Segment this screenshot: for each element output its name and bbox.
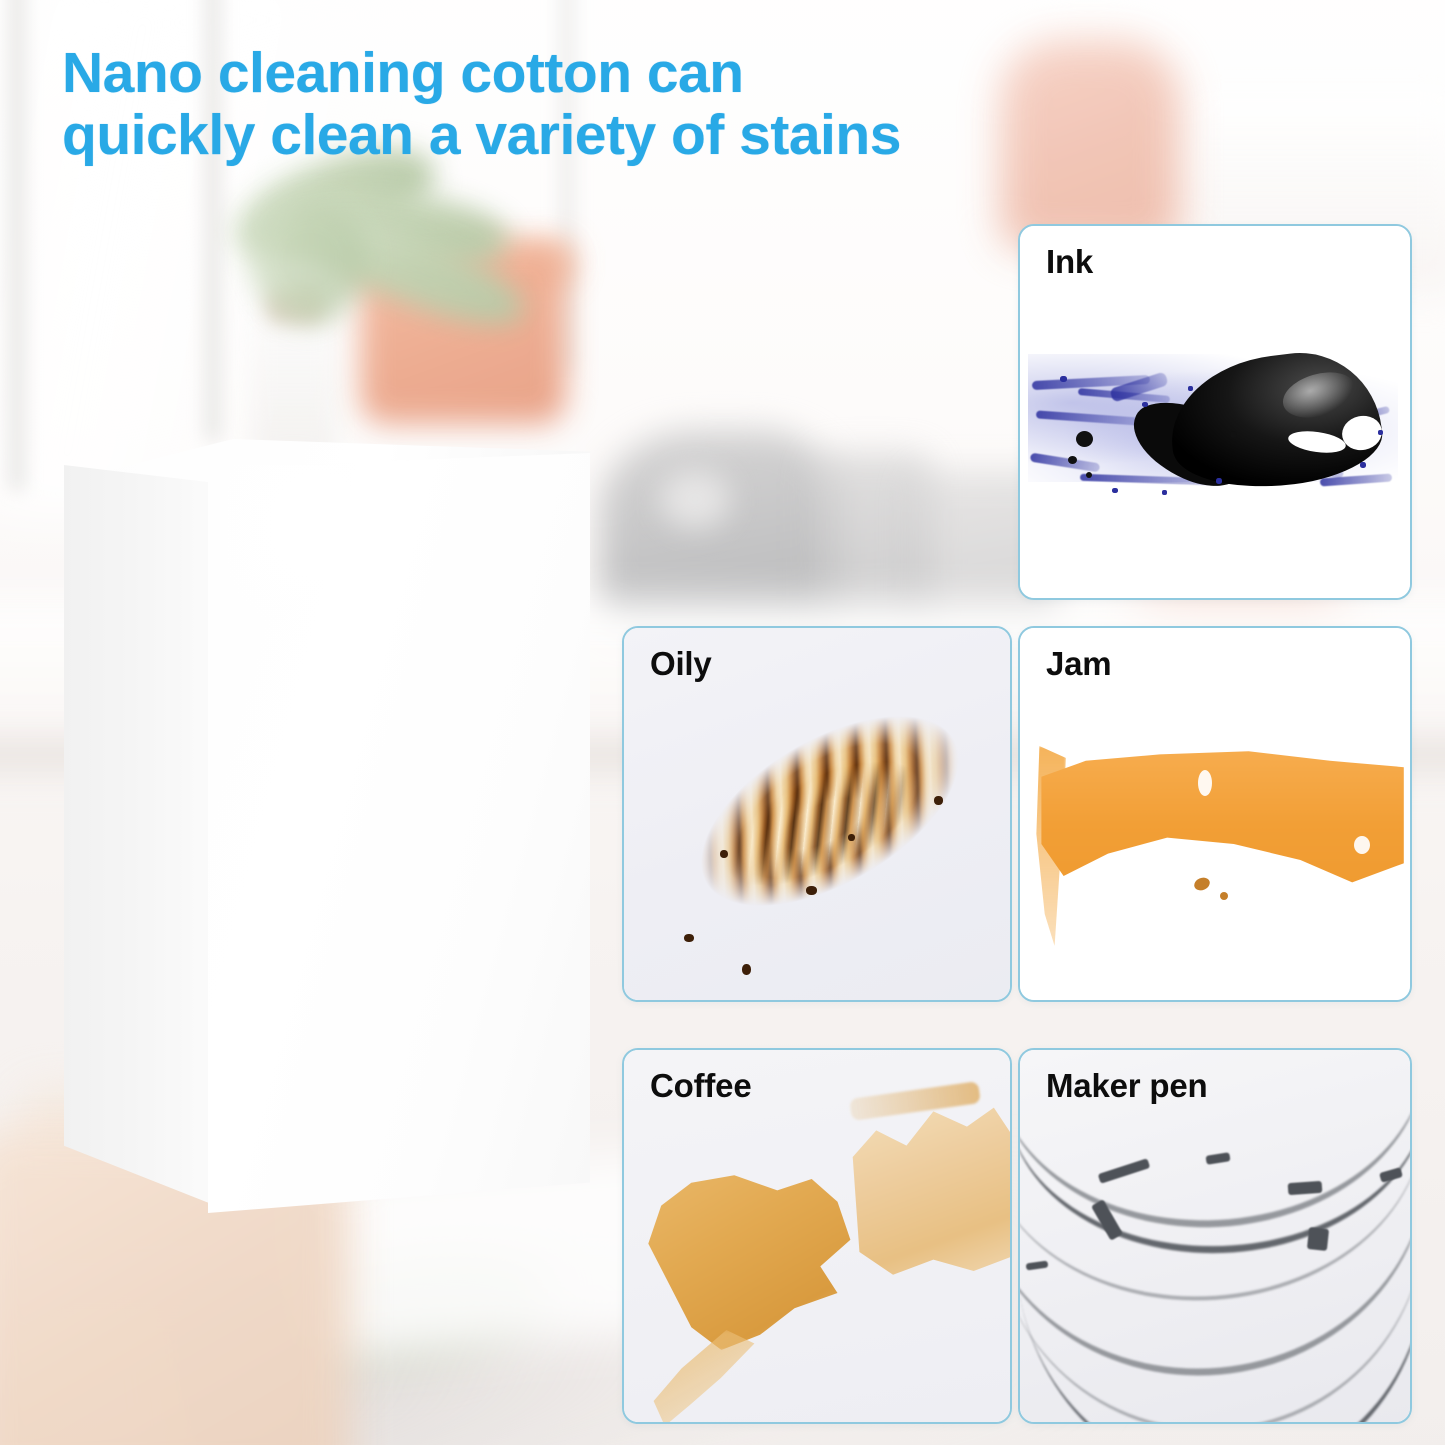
stain-card-oily[interactable]: Oily (622, 626, 1012, 1002)
ink-speck (1060, 376, 1067, 382)
ink-droplet (1068, 456, 1077, 464)
stain-card-label: Coffee (650, 1066, 751, 1106)
oily-crumb (684, 934, 694, 942)
ink-speck (1378, 430, 1383, 435)
ink-speck (1162, 490, 1167, 495)
stain-card-ink[interactable]: Ink (1018, 224, 1412, 600)
stain-card-label: Maker pen (1046, 1066, 1207, 1106)
background-window-frame (10, 0, 24, 490)
page-title: Nano cleaning cotton can quickly clean a… (62, 42, 1072, 166)
ink-droplet (1076, 431, 1093, 447)
jam-highlight (1354, 836, 1370, 854)
marker-gap-mark (1307, 1227, 1329, 1251)
product-marketing-poster: Nano cleaning cotton can quickly clean a… (0, 0, 1445, 1445)
oily-crumb (848, 834, 855, 841)
stain-card-jam[interactable]: Jam (1018, 626, 1412, 1002)
ink-speck (1360, 462, 1366, 468)
stain-card-label: Ink (1046, 242, 1093, 282)
ink-speck (1112, 488, 1118, 493)
ink-speck (1142, 402, 1148, 407)
stain-card-label: Oily (650, 644, 712, 684)
oily-crumb (934, 796, 943, 805)
jam-fruit-bit (1220, 892, 1228, 900)
ink-droplet (1230, 431, 1237, 438)
oily-crumb (742, 964, 751, 975)
oily-crumb (806, 886, 817, 895)
sponge-side-face (64, 465, 214, 1205)
oily-crumb (720, 850, 728, 858)
stain-card-label: Jam (1046, 644, 1111, 684)
ink-speck (1188, 386, 1193, 391)
stain-card-coffee[interactable]: Coffee (622, 1048, 1012, 1424)
product-sponge-block (60, 425, 590, 1245)
marker-gap-mark (1288, 1181, 1323, 1195)
background-appliance-knob (660, 470, 730, 528)
sponge-highlight (228, 465, 528, 765)
ink-droplet (1086, 472, 1092, 478)
jam-highlight (1198, 770, 1212, 796)
ink-speck (1216, 478, 1222, 484)
stain-card-maker-pen[interactable]: Maker pen (1018, 1048, 1412, 1424)
